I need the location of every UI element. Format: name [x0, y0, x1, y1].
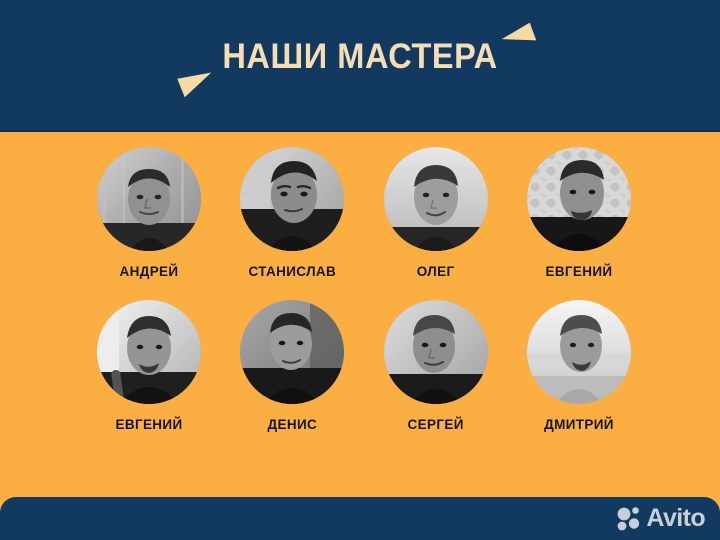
avatar	[384, 147, 488, 251]
team-member-name: ОЛЕГ	[417, 264, 455, 279]
team-member-card[interactable]: ДЕНИС	[233, 300, 351, 432]
poster-canvas: НАШИ МАСТЕРА	[0, 0, 720, 540]
team-grid: АНДРЕЙ	[90, 147, 638, 432]
avatar	[240, 300, 344, 404]
avatar	[384, 300, 488, 404]
avatar	[240, 147, 344, 251]
header-banner: НАШИ МАСТЕРА	[0, 0, 720, 132]
team-member-name: ДМИТРИЙ	[544, 417, 614, 432]
team-member-card[interactable]: ОЛЕГ	[377, 147, 495, 279]
team-member-card[interactable]: СЕРГЕЙ	[377, 300, 495, 432]
team-member-name: АНДРЕЙ	[120, 264, 179, 279]
team-row: ЕВГЕНИЙ	[90, 300, 638, 432]
team-member-name: СЕРГЕЙ	[408, 417, 464, 432]
team-member-card[interactable]: ДМИТРИЙ	[520, 300, 638, 432]
team-member-card[interactable]: СТАНИСЛАВ	[233, 147, 351, 279]
team-member-name: ДЕНИС	[268, 417, 318, 432]
avatar	[527, 147, 631, 251]
team-row: АНДРЕЙ	[90, 147, 638, 279]
team-member-card[interactable]: ЕВГЕНИЙ	[520, 147, 638, 279]
team-member-name: ЕВГЕНИЙ	[115, 417, 182, 432]
team-member-card[interactable]: ЕВГЕНИЙ	[90, 300, 208, 432]
avatar	[97, 300, 201, 404]
avito-logo[interactable]: Avito	[616, 505, 705, 531]
team-member-name: ЕВГЕНИЙ	[545, 264, 612, 279]
team-member-card[interactable]: АНДРЕЙ	[90, 147, 208, 279]
avatar	[527, 300, 631, 404]
avito-dots-icon	[616, 505, 642, 531]
avatar	[97, 147, 201, 251]
footer-bar: Avito	[0, 497, 720, 540]
team-member-name: СТАНИСЛАВ	[249, 264, 337, 279]
page-title: НАШИ МАСТЕРА	[25, 38, 695, 76]
avito-wordmark: Avito	[646, 506, 705, 531]
